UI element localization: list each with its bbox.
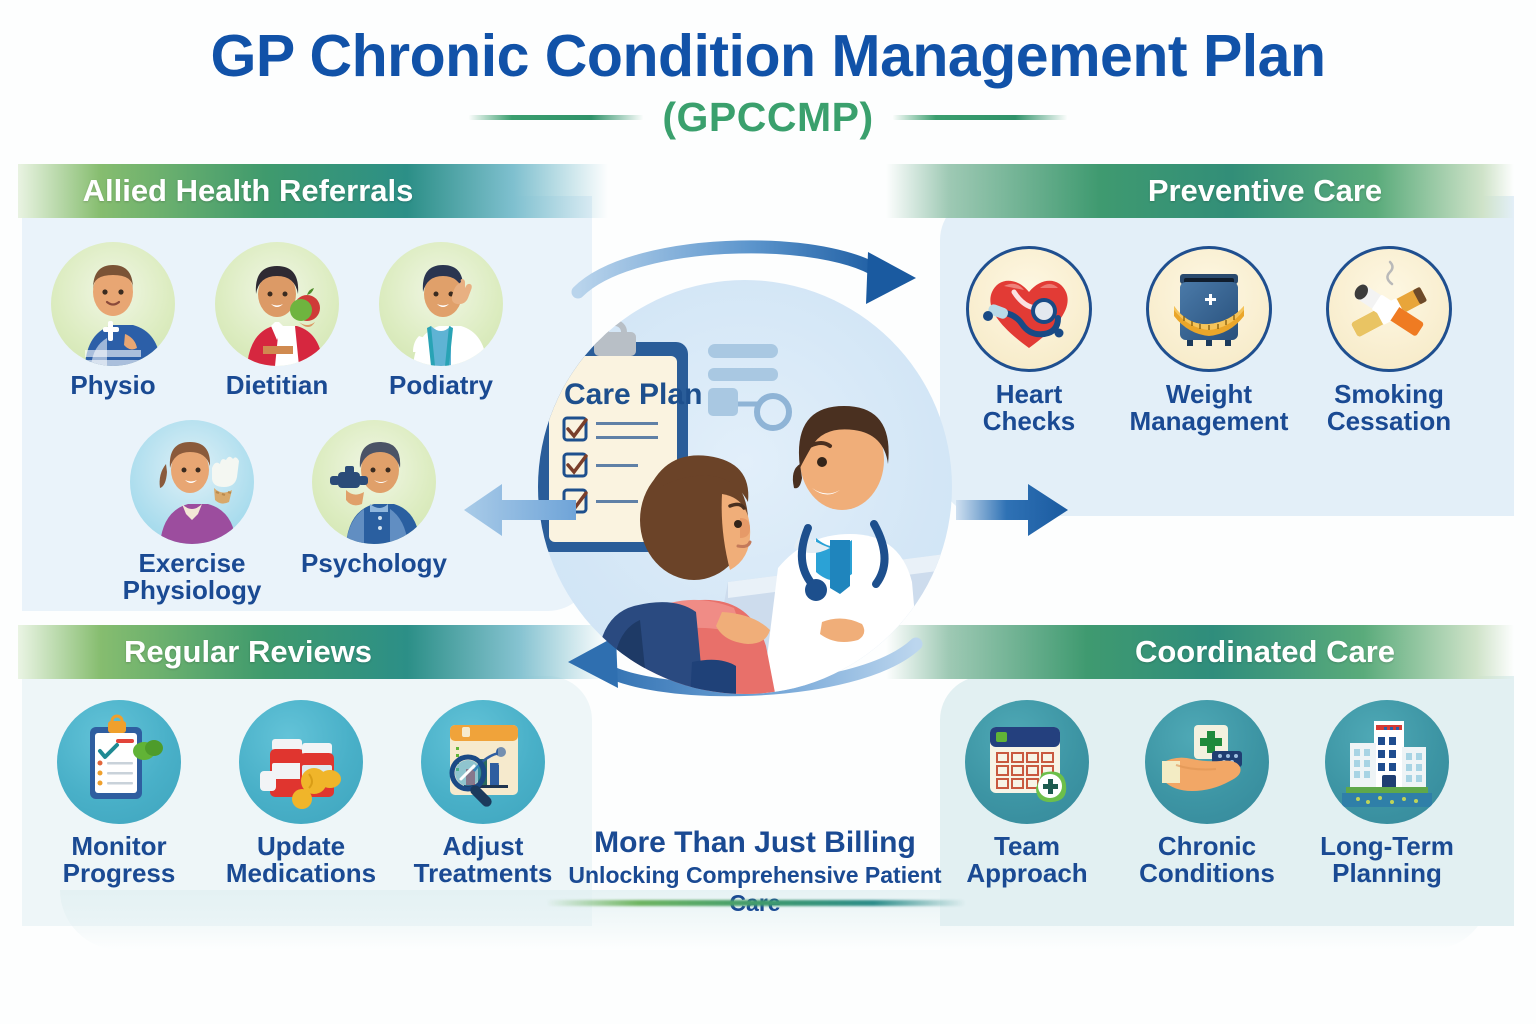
list-item[interactable]: Podiatry [370,242,512,399]
list-item-label: Dietitian [226,372,329,399]
crossed-cigarettes-icon [1326,246,1452,372]
page-title: GP Chronic Condition Management Plan [0,26,1536,86]
group-regular-reviews: Monitor Progress Update Medica [48,700,554,887]
section-title-coordinated-care: Coordinated Care [886,634,1514,670]
left-straight-arrow [456,470,586,550]
section-header-coordinated-care: Coordinated Care [886,625,1514,679]
group-allied-health-row1: Physio [42,242,512,399]
list-item-label: Long-Term Planning [1320,833,1454,887]
list-item[interactable]: Dietitian [206,242,348,399]
list-item[interactable]: Chronic Conditions [1136,700,1278,887]
list-item[interactable]: Psychology [294,420,454,604]
list-item[interactable]: Physio [42,242,184,399]
section-header-allied-health-referrals: Allied Health Referrals [18,164,608,218]
clipboard-checklist-icon [57,700,181,824]
list-item-label: Team Approach [966,833,1087,887]
group-coordinated-care: Team Approach Chronic Conditions [956,700,1458,887]
infographic-canvas: GP Chronic Condition Management Plan (GP… [0,0,1536,1024]
center-disc-background [538,280,952,694]
list-item-label: Heart Checks [983,381,1076,435]
list-item-label: Psychology [301,550,447,577]
list-item[interactable]: Smoking Cessation [1318,246,1460,435]
list-item[interactable]: Team Approach [956,700,1098,887]
list-item-label: Update Medications [226,833,376,887]
list-item[interactable]: Adjust Treatments [412,700,554,887]
chart-magnifier-icon [421,700,545,824]
list-item-label: Physio [70,372,155,399]
center-illustration: Care Plan [516,232,976,698]
title-rule-left [468,115,644,120]
list-item[interactable]: Exercise Physiology [112,420,272,604]
acronym-row: (GPCCMP) [0,94,1536,141]
exercise-physiologist-avatar-icon [130,420,254,544]
caption-rule [546,900,966,906]
list-item-label: Monitor Progress [63,833,176,887]
list-item-label: Weight Management [1130,381,1289,435]
list-item[interactable]: Heart Checks [958,246,1100,435]
caption-headline: More Than Just Billing [540,826,970,859]
heart-stethoscope-icon [966,246,1092,372]
section-title-allied-health-referrals: Allied Health Referrals [18,173,608,209]
psychologist-avatar-icon [312,420,436,544]
list-item-label: Exercise Physiology [112,550,272,604]
scale-measuring-tape-icon [1146,246,1272,372]
podiatrist-avatar-icon [379,242,503,366]
hospital-buildings-icon [1325,700,1449,824]
list-item[interactable]: Update Medications [230,700,372,887]
dietitian-avatar-icon [215,242,339,366]
group-preventive-care: Heart Checks [958,246,1460,435]
calendar-plus-icon [965,700,1089,824]
physiotherapist-avatar-icon [51,242,175,366]
list-item[interactable]: Monitor Progress [48,700,190,887]
page-acronym: (GPCCMP) [662,94,873,141]
list-item-label: Smoking Cessation [1327,381,1451,435]
list-item[interactable]: Weight Management [1138,246,1280,435]
hand-first-aid-icon [1145,700,1269,824]
caption-subline: Unlocking Comprehensive Patient Care [540,862,970,917]
pill-bottles-icon [239,700,363,824]
list-item-label: Chronic Conditions [1139,833,1275,887]
right-straight-arrow [950,470,1080,550]
list-item-label: Podiatry [389,372,493,399]
title-rule-right [892,115,1068,120]
section-header-preventive-care: Preventive Care [886,164,1514,218]
page-header: GP Chronic Condition Management Plan (GP… [0,26,1536,141]
section-title-preventive-care: Preventive Care [886,173,1514,209]
list-item-label: Adjust Treatments [414,833,553,887]
group-allied-health-row2: Exercise Physiology [112,420,454,604]
list-item[interactable]: Long-Term Planning [1316,700,1458,887]
